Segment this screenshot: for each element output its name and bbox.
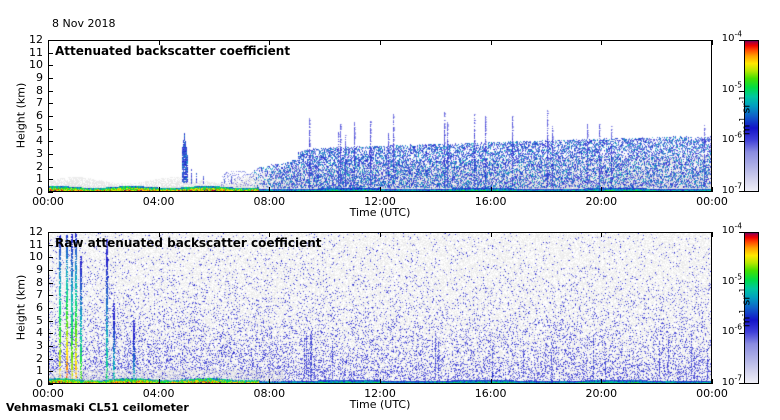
x-tick-label: 08:00 <box>247 387 291 400</box>
y-tick-label: 10 <box>17 250 43 263</box>
y-tick-mark <box>48 141 53 142</box>
y-tick-label: 7 <box>17 96 43 109</box>
y-tick-mark <box>48 384 53 385</box>
y-tick-label: 8 <box>17 84 43 97</box>
y-tick-label: 3 <box>17 147 43 160</box>
colorbar-tick-label: 10-5 <box>718 276 742 287</box>
x-tick-label: 00:00 <box>26 387 70 400</box>
x-tick-mark <box>380 187 381 192</box>
x-tick-mark <box>159 187 160 192</box>
plot-panel-raw <box>48 232 712 384</box>
y-tick-label: 12 <box>17 225 43 238</box>
colorbar-tick-mark <box>739 383 744 384</box>
x-tick-mark <box>712 187 713 192</box>
y-tick-mark <box>48 371 53 372</box>
colorbar-tick-mark <box>739 40 744 41</box>
x-tick-mark <box>601 187 602 192</box>
y-tick-mark <box>48 78 53 79</box>
y-tick-mark <box>48 154 53 155</box>
x-tick-label: 08:00 <box>247 195 291 208</box>
colorbar-tick-mark <box>739 232 744 233</box>
x-tick-mark-top <box>380 232 381 237</box>
colorbar-tick-mark <box>739 191 744 192</box>
y-tick-label: 7 <box>17 288 43 301</box>
x-tick-mark <box>712 379 713 384</box>
x-tick-mark <box>491 379 492 384</box>
x-tick-mark-top <box>712 232 713 237</box>
y-tick-label: 5 <box>17 122 43 135</box>
x-tick-label: 00:00 <box>690 387 734 400</box>
x-tick-label: 20:00 <box>579 195 623 208</box>
x-tick-label: 00:00 <box>690 195 734 208</box>
colorbar-tick-mark <box>739 91 744 92</box>
y-tick-label: 10 <box>17 58 43 71</box>
cb-exp2-bottom: -1 <box>738 288 747 295</box>
x-tick-mark <box>159 379 160 384</box>
y-tick-label: 6 <box>17 109 43 122</box>
x-tick-mark-top <box>48 40 49 45</box>
colorbar-tick-label: 10-4 <box>718 225 742 236</box>
panel-title-attenuated: Attenuated backscatter coefficient <box>55 44 290 58</box>
x-tick-label: 20:00 <box>579 387 623 400</box>
colorbar-tick-label: 10-6 <box>718 134 742 145</box>
x-tick-mark-top <box>491 40 492 45</box>
cb-unit-mid-bottom: sr <box>740 295 753 309</box>
x-tick-mark <box>380 379 381 384</box>
x-tick-label: 12:00 <box>358 387 402 400</box>
y-tick-mark <box>48 53 53 54</box>
y-tick-mark <box>48 308 53 309</box>
x-tick-mark-top <box>48 232 49 237</box>
y-tick-mark <box>48 116 53 117</box>
x-tick-mark-top <box>491 232 492 237</box>
x-tick-mark <box>48 379 49 384</box>
y-tick-mark <box>48 346 53 347</box>
y-tick-mark <box>48 333 53 334</box>
x-tick-mark-top <box>380 40 381 45</box>
y-tick-label: 12 <box>17 33 43 46</box>
footer-site-label: Vehmasmaki CL51 ceilometer <box>6 401 189 414</box>
plot-panel-attenuated <box>48 40 712 192</box>
x-tick-mark-top <box>601 40 602 45</box>
cb-exp1-top: -1 <box>738 117 747 124</box>
colorbar-tick-label: 10-4 <box>718 33 742 44</box>
y-tick-label: 1 <box>17 364 43 377</box>
y-tick-label: 8 <box>17 276 43 289</box>
colorbar-tick-mark <box>739 333 744 334</box>
y-tick-label: 4 <box>17 326 43 339</box>
cb-exp2-top: -1 <box>738 96 747 103</box>
y-tick-mark <box>48 283 53 284</box>
cb-unit-mid-top: sr <box>740 103 753 117</box>
x-tick-label: 04:00 <box>137 195 181 208</box>
y-tick-mark <box>48 129 53 130</box>
colorbar-tick-label: 10-6 <box>718 326 742 337</box>
colorbar-label-top: m-1 sr-1 <box>740 56 753 176</box>
x-tick-mark-top <box>601 232 602 237</box>
y-tick-mark <box>48 321 53 322</box>
colorbar-label-bottom: m-1 sr-1 <box>740 248 753 368</box>
panel-title-raw: Raw attenuated backscatter coefficient <box>55 236 322 250</box>
y-tick-mark <box>48 179 53 180</box>
colorbar-tick-mark <box>739 141 744 142</box>
y-tick-mark <box>48 359 53 360</box>
x-tick-label: 12:00 <box>358 195 402 208</box>
y-tick-label: 5 <box>17 314 43 327</box>
y-tick-mark <box>48 167 53 168</box>
cb-exp1-bottom: -1 <box>738 309 747 316</box>
y-tick-mark <box>48 245 53 246</box>
colorbar-tick-mark <box>739 283 744 284</box>
y-tick-mark <box>48 257 53 258</box>
x-tick-mark-top <box>712 40 713 45</box>
y-tick-mark <box>48 192 53 193</box>
date-label: 8 Nov 2018 <box>52 17 115 30</box>
x-tick-mark <box>491 187 492 192</box>
y-tick-mark <box>48 270 53 271</box>
x-tick-mark <box>269 187 270 192</box>
x-tick-label: 16:00 <box>469 195 513 208</box>
x-tick-mark <box>269 379 270 384</box>
y-tick-label: 11 <box>17 46 43 59</box>
y-tick-label: 9 <box>17 263 43 276</box>
y-tick-label: 2 <box>17 352 43 365</box>
y-tick-label: 3 <box>17 339 43 352</box>
colorbar-tick-label: 10-5 <box>718 84 742 95</box>
x-tick-mark <box>48 187 49 192</box>
y-tick-label: 4 <box>17 134 43 147</box>
y-tick-label: 2 <box>17 160 43 173</box>
y-tick-mark <box>48 295 53 296</box>
y-tick-label: 1 <box>17 172 43 185</box>
y-tick-label: 11 <box>17 238 43 251</box>
y-tick-mark <box>48 103 53 104</box>
y-tick-label: 9 <box>17 71 43 84</box>
x-tick-label: 16:00 <box>469 387 513 400</box>
y-tick-mark <box>48 65 53 66</box>
x-tick-label: 04:00 <box>137 387 181 400</box>
x-tick-label: 00:00 <box>26 195 70 208</box>
x-tick-mark <box>601 379 602 384</box>
y-tick-mark <box>48 91 53 92</box>
y-tick-label: 6 <box>17 301 43 314</box>
